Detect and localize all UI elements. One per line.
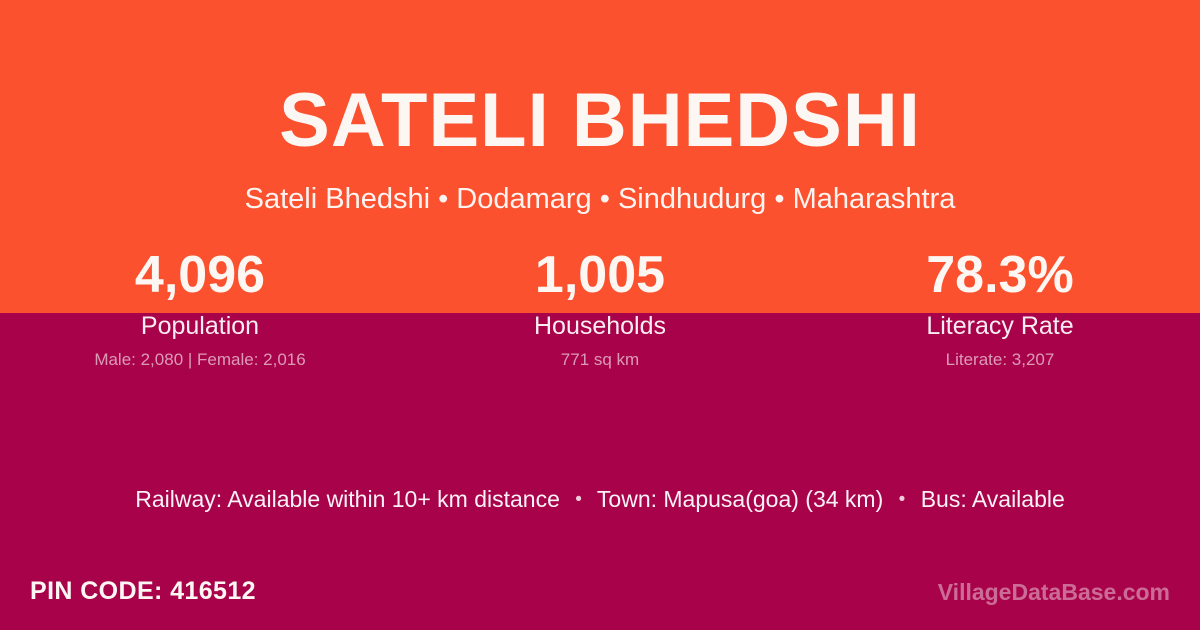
breadcrumb: Sateli Bhedshi • Dodamarg • Sindhudurg •… xyxy=(0,181,1200,217)
stat-value: 4,096 xyxy=(0,243,400,307)
stats-row: 4,096 Population Male: 2,080 | Female: 2… xyxy=(0,243,1200,370)
amenity-town: Town: Mapusa(goa) (34 km) xyxy=(597,486,883,512)
stat-label: Population xyxy=(0,311,400,341)
village-info-card: SATELI BHEDSHI Sateli Bhedshi • Dodamarg… xyxy=(0,0,1200,630)
stat-sublabel: Male: 2,080 | Female: 2,016 xyxy=(0,349,400,370)
amenity-railway: Railway: Available within 10+ km distanc… xyxy=(135,486,560,512)
stat-value: 78.3% xyxy=(800,243,1200,307)
amenities-row: Railway: Available within 10+ km distanc… xyxy=(0,483,1200,516)
stat-population: 4,096 Population Male: 2,080 | Female: 2… xyxy=(0,243,400,370)
stat-sublabel: Literate: 3,207 xyxy=(800,349,1200,370)
amenity-bus: Bus: Available xyxy=(921,486,1065,512)
stat-label: Households xyxy=(400,311,800,341)
stat-households: 1,005 Households 771 sq km xyxy=(400,243,800,370)
stat-sublabel: 771 sq km xyxy=(400,349,800,370)
pin-code: PIN CODE: 416512 xyxy=(30,575,256,607)
stat-value: 1,005 xyxy=(400,243,800,307)
footer: PIN CODE: 416512 VillageDataBase.com xyxy=(0,570,1200,630)
page-title: SATELI BHEDSHI xyxy=(0,78,1200,164)
brand-watermark: VillageDataBase.com xyxy=(938,577,1170,607)
stat-label: Literacy Rate xyxy=(800,311,1200,341)
amenity-separator: • xyxy=(566,484,591,516)
amenity-separator: • xyxy=(890,484,915,516)
stat-literacy-rate: 78.3% Literacy Rate Literate: 3,207 xyxy=(800,243,1200,370)
